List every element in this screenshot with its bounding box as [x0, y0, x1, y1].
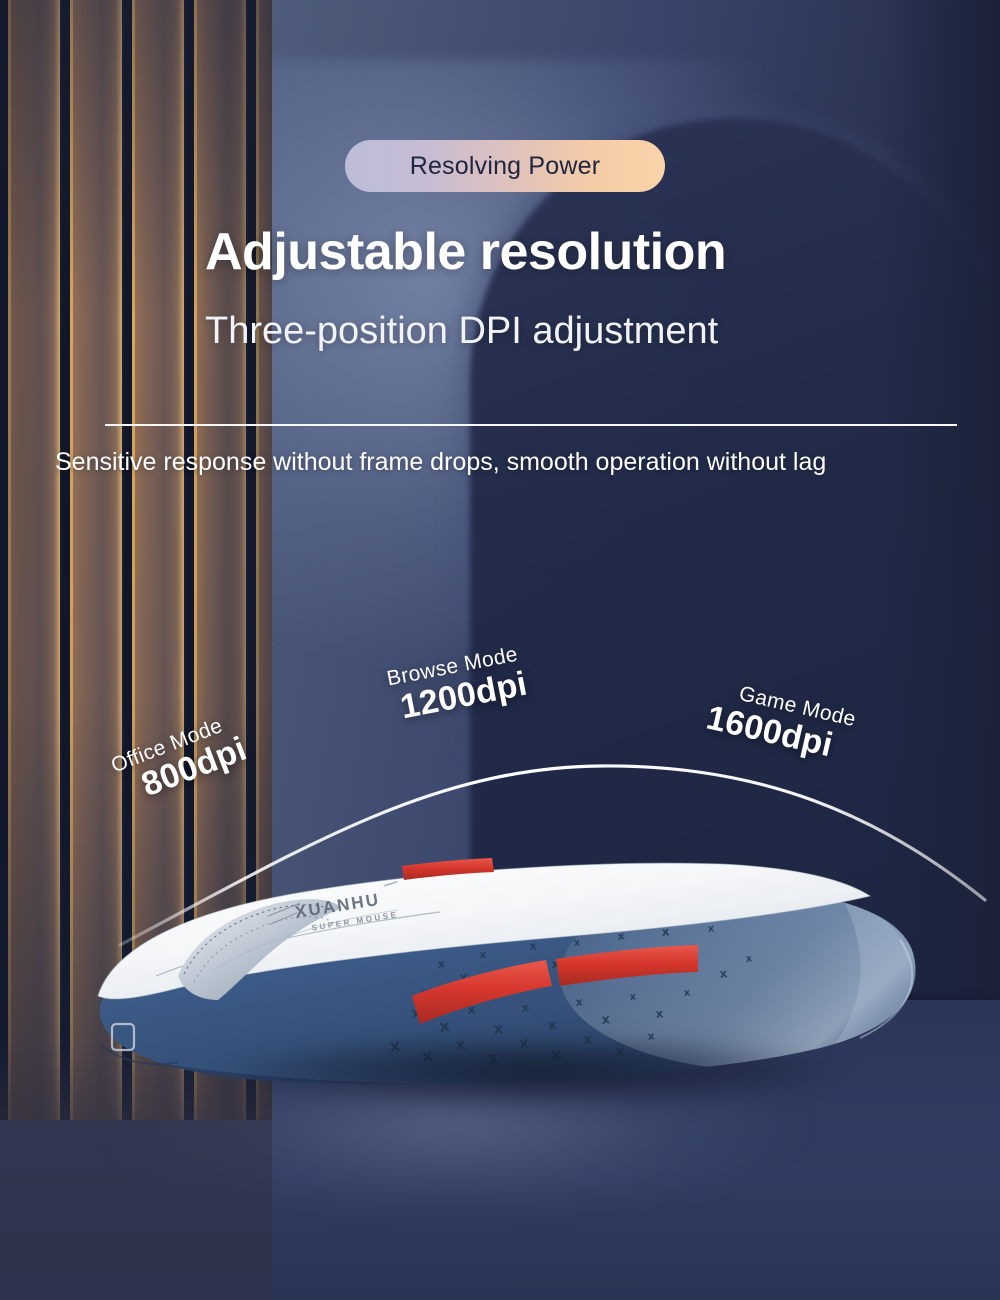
badge-label: Resolving Power [410, 152, 601, 181]
page-tagline: Sensitive response without frame drops, … [55, 448, 955, 477]
product-banner: Resolving Power Adjustable resolution Th… [0, 0, 1000, 1300]
page-title: Adjustable resolution [205, 222, 726, 282]
product-mouse: x x x x x x x x x x x x x x x [60, 800, 960, 1130]
svg-text:x: x [529, 939, 537, 953]
svg-text:x: x [437, 957, 445, 971]
mouse-drop-shadow [130, 1025, 940, 1117]
resolving-power-badge: Resolving Power [345, 140, 665, 192]
svg-text:x: x [575, 995, 583, 1009]
page-subtitle: Three-position DPI adjustment [205, 310, 718, 353]
header-divider [105, 424, 957, 426]
